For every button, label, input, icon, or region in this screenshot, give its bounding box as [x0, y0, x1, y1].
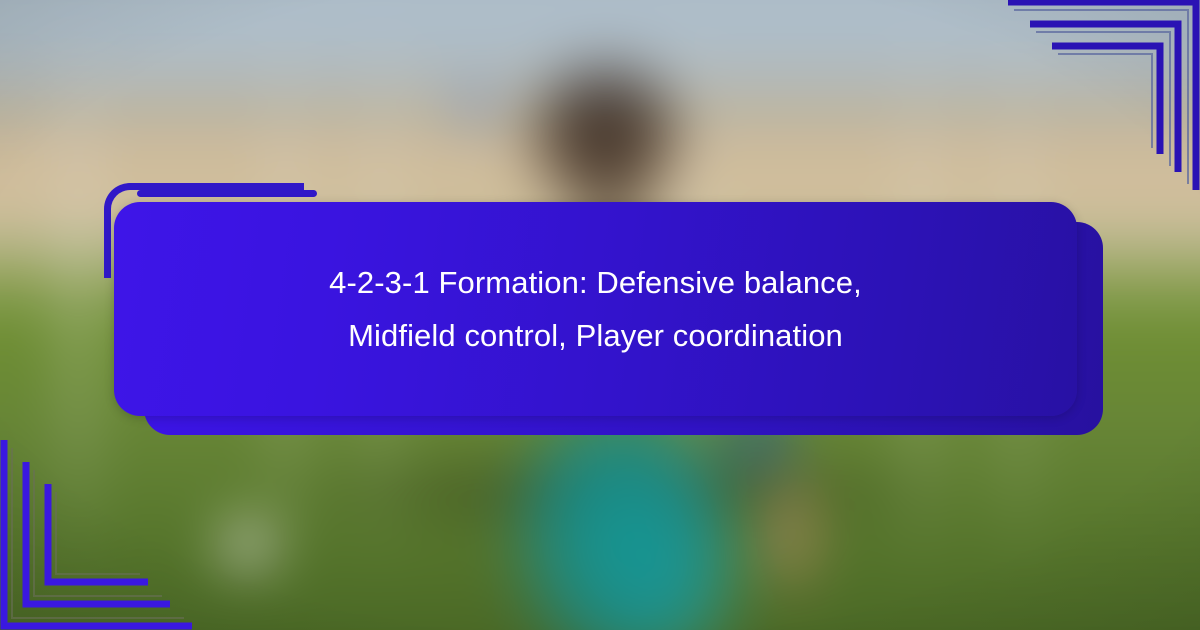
- formation-card: 4-2-3-1 Formation: Defensive balance, Mi…: [100, 183, 1110, 448]
- card-outline-arm: [137, 190, 317, 197]
- card-headline-line-2: Midfield control, Player coordination: [348, 309, 843, 362]
- card-layer-front: 4-2-3-1 Formation: Defensive balance, Mi…: [114, 202, 1077, 416]
- card-headline-line-1: 4-2-3-1 Formation: Defensive balance,: [329, 256, 862, 309]
- card-text-block: 4-2-3-1 Formation: Defensive balance, Mi…: [114, 202, 1077, 416]
- banner-canvas: 4-2-3-1 Formation: Defensive balance, Mi…: [0, 0, 1200, 630]
